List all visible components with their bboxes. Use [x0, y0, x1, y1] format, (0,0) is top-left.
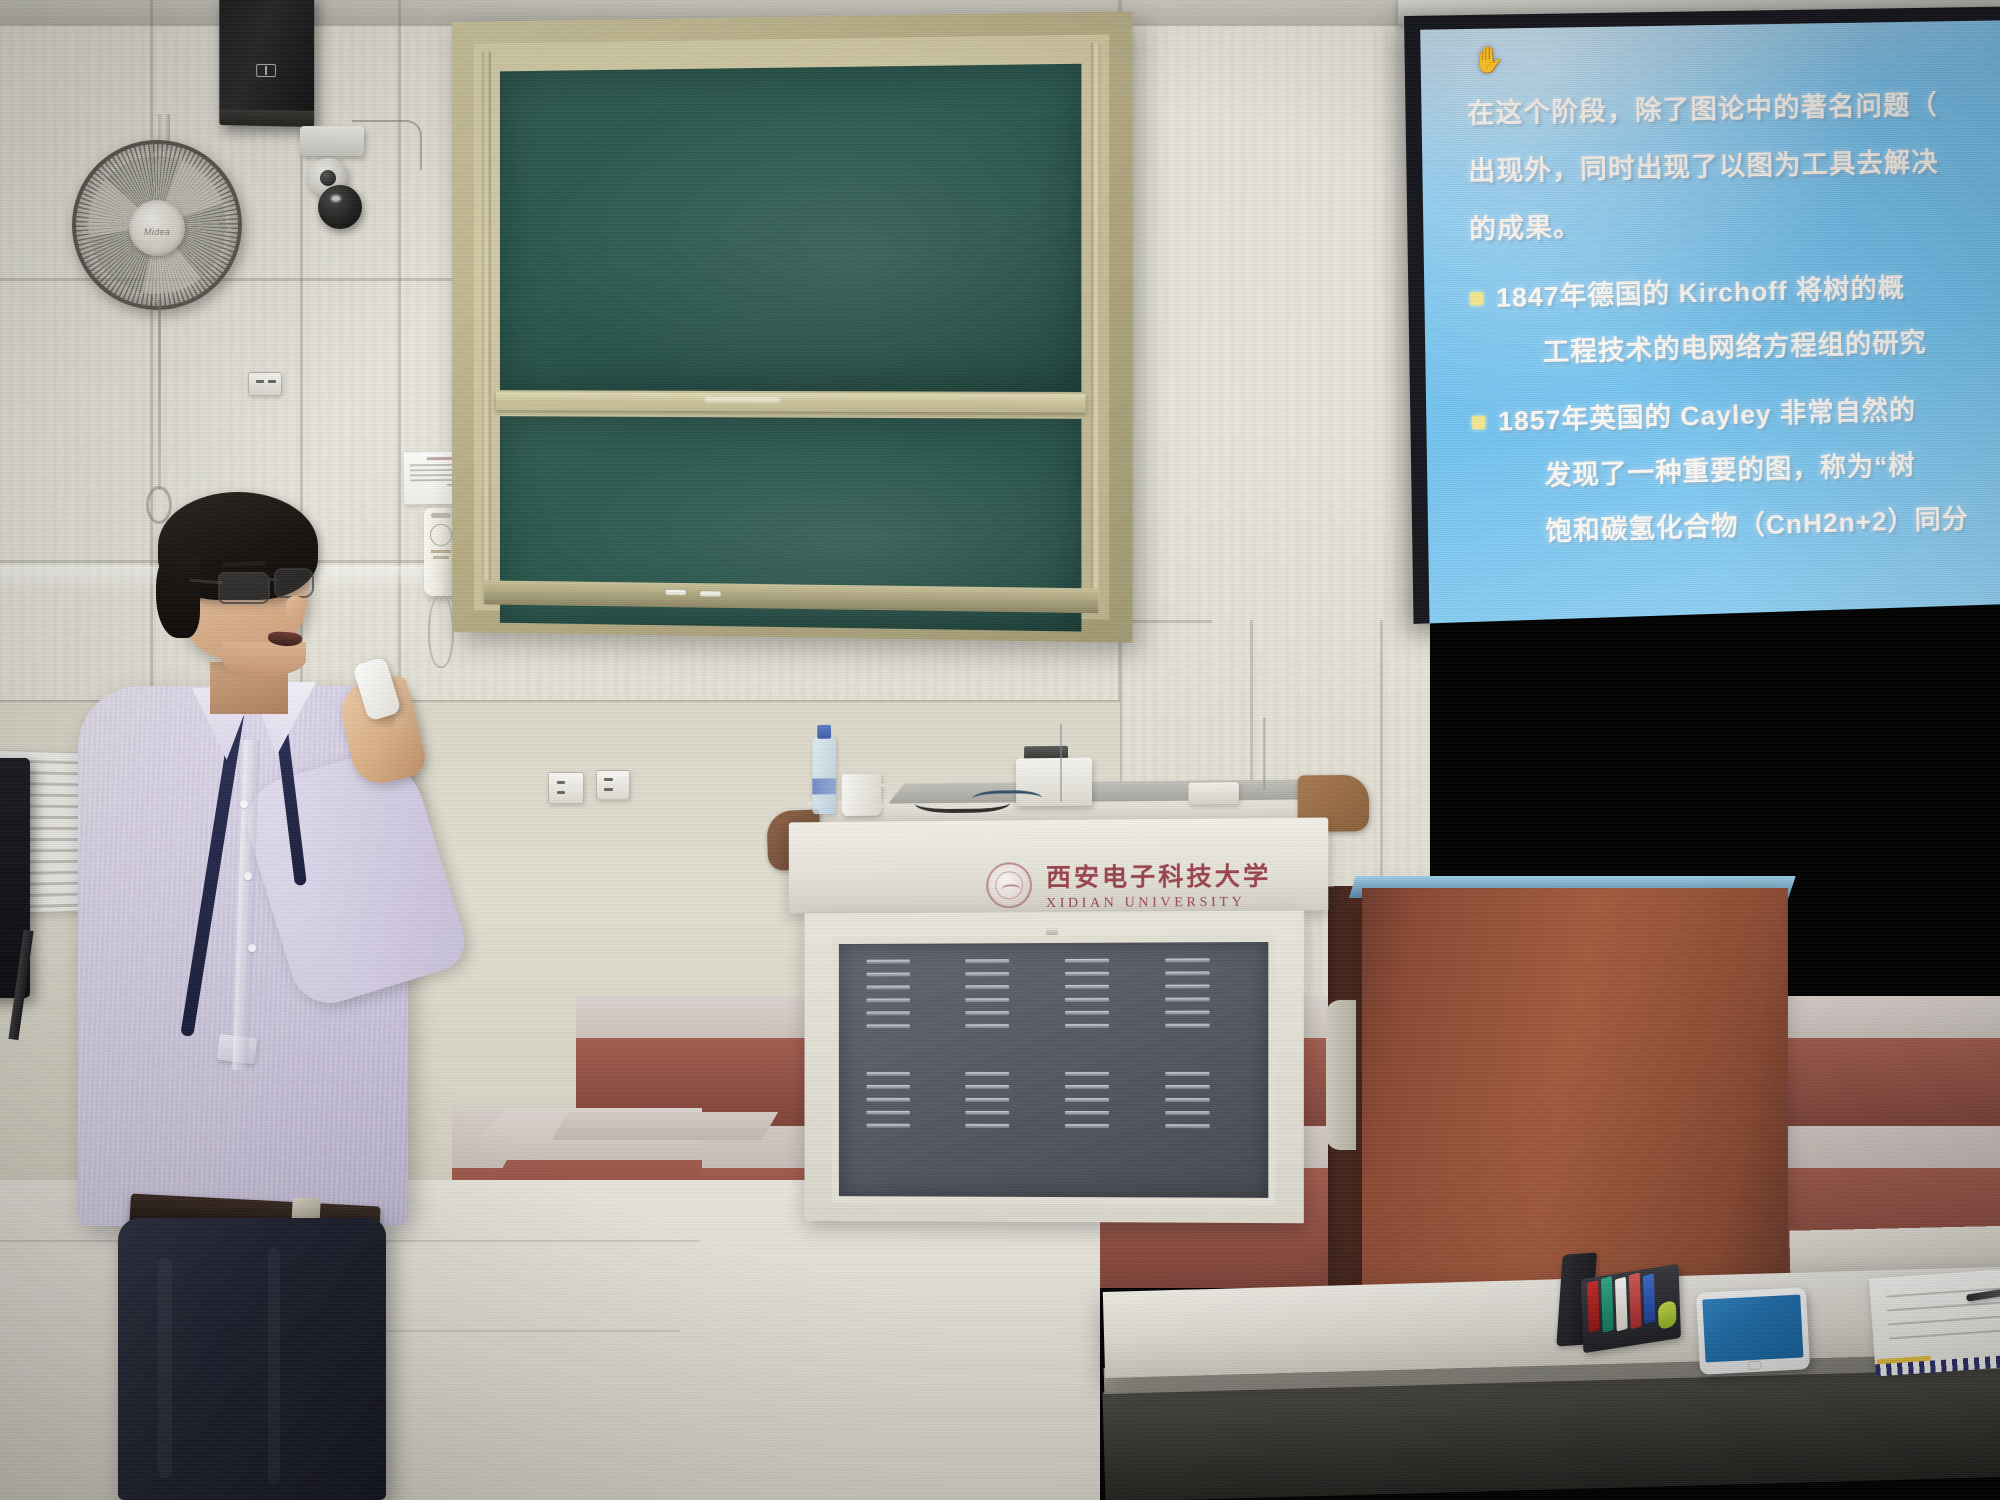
- marker-blue: [1643, 1273, 1656, 1324]
- chalk-piece[interactable]: [700, 591, 720, 596]
- glasses-lens-right-icon: [274, 568, 314, 598]
- ceiling-speaker-icon: [219, 0, 314, 127]
- microphone-pad[interactable]: [1188, 782, 1238, 805]
- vent-column: [1065, 959, 1109, 1137]
- presenter: [70, 500, 430, 1500]
- marker-yellow: [1658, 1299, 1677, 1330]
- speaker-base: [219, 109, 314, 127]
- bottle-label: [812, 778, 836, 794]
- university-name-english: XIDIAN UNIVERSITY: [1046, 895, 1271, 912]
- lectern-front-panel: 西安电子科技大学 XIDIAN UNIVERSITY: [789, 817, 1328, 913]
- lectern[interactable]: 西安电子科技大学 XIDIAN UNIVERSITY: [771, 817, 1340, 1342]
- power-socket[interactable]: [596, 770, 630, 800]
- slide-paragraph-line: 在这个阶段，除了图论中的著名问题（: [1467, 74, 2000, 142]
- bottle-cap: [817, 725, 831, 739]
- coffee-mug[interactable]: [842, 774, 881, 816]
- bullet-square-icon: [1470, 292, 1483, 305]
- cabinet-lock-icon[interactable]: [1046, 926, 1058, 935]
- fan-hub: Midea: [129, 200, 185, 256]
- phone-cord: [428, 594, 454, 668]
- slide-paragraph-line: 出现外，同时出现了以图为工具去解决: [1468, 131, 2000, 200]
- presenter-sideburn: [156, 552, 200, 638]
- vent-column: [965, 959, 1009, 1137]
- power-socket[interactable]: [548, 772, 584, 804]
- water-bottle[interactable]: [812, 737, 836, 815]
- blackboard-panel-upper: [500, 64, 1081, 392]
- security-camera-mount: [300, 126, 364, 156]
- glasses-lens-left-icon: [218, 572, 270, 604]
- university-name-chinese: 西安电子科技大学: [1046, 856, 1271, 894]
- blackboard-trim-left: [482, 51, 491, 602]
- slide-content: 在这个阶段，除了图论中的著名问题（ 出现外，同时出现了以图为工具去解决 的成果。…: [1467, 74, 2000, 562]
- university-logo: 西安电子科技大学 XIDIAN UNIVERSITY: [986, 856, 1271, 912]
- lectern-cabinet: [805, 911, 1304, 1224]
- phone-dial-icon: [430, 524, 452, 546]
- phone-earpiece: [431, 513, 451, 518]
- pencil-case[interactable]: [1558, 1256, 1682, 1364]
- vent-column: [1165, 958, 1209, 1137]
- fan-pull-cord[interactable]: [158, 300, 161, 490]
- slide-paragraph-line: 的成果。: [1469, 188, 2000, 258]
- presentation-slide: ✋ 在这个阶段，除了图论中的著名问题（ 出现外，同时出现了以图为工具去解决 的成…: [1420, 20, 2000, 624]
- blackboard-inner-frame: [474, 34, 1109, 619]
- wall-fan-icon[interactable]: Midea: [72, 140, 242, 310]
- smartphone-screen[interactable]: [1702, 1294, 1803, 1362]
- presenter-nose: [286, 596, 306, 620]
- home-button-icon[interactable]: [1748, 1361, 1761, 1371]
- blackboard-chalk-rail: [496, 392, 1086, 413]
- cable-bundle: [972, 790, 1042, 811]
- marker-white: [1615, 1277, 1628, 1332]
- fan-brand-label: Midea: [144, 227, 170, 237]
- classroom-scene: Midea: [0, 0, 2000, 1500]
- glasses-bridge: [268, 578, 278, 581]
- camera-lens-icon: [318, 185, 362, 229]
- cabinet-vent-panel: [832, 935, 1275, 1205]
- slide-bullet-text: 1847年德国的 Kirchoff 将树的概: [1496, 260, 1906, 325]
- vent-column: [866, 960, 909, 1137]
- bullet-square-icon: [1472, 416, 1485, 429]
- projection-screen: ✋ 在这个阶段，除了图论中的著名问题（ 出现外，同时出现了以图为工具去解决 的成…: [1404, 6, 2000, 623]
- marker-green: [1601, 1276, 1614, 1333]
- chalk-piece[interactable]: [666, 590, 686, 595]
- pointer-hand-icon: ✋: [1472, 46, 1505, 72]
- wooden-teacher-desk[interactable]: [1362, 888, 1788, 1313]
- pencil-case-body: [1581, 1264, 1681, 1353]
- power-socket[interactable]: [248, 372, 282, 396]
- spiral-notebook[interactable]: [1869, 1265, 2000, 1370]
- speaker-badge-icon: [256, 64, 276, 77]
- smartphone[interactable]: [1696, 1287, 1810, 1375]
- marker-red: [1587, 1280, 1600, 1333]
- blackboard-trim-right: [1091, 43, 1101, 611]
- presenter-trousers: [118, 1218, 386, 1500]
- presenter-chin: [222, 642, 306, 676]
- marker-pink: [1629, 1272, 1642, 1329]
- stage-ramp-edge: [552, 1112, 778, 1140]
- university-seal-icon: [986, 862, 1032, 908]
- slide-bullet-continuation: 工程技术的电网络方程组的研究: [1542, 312, 2000, 381]
- blackboard: [452, 11, 1133, 642]
